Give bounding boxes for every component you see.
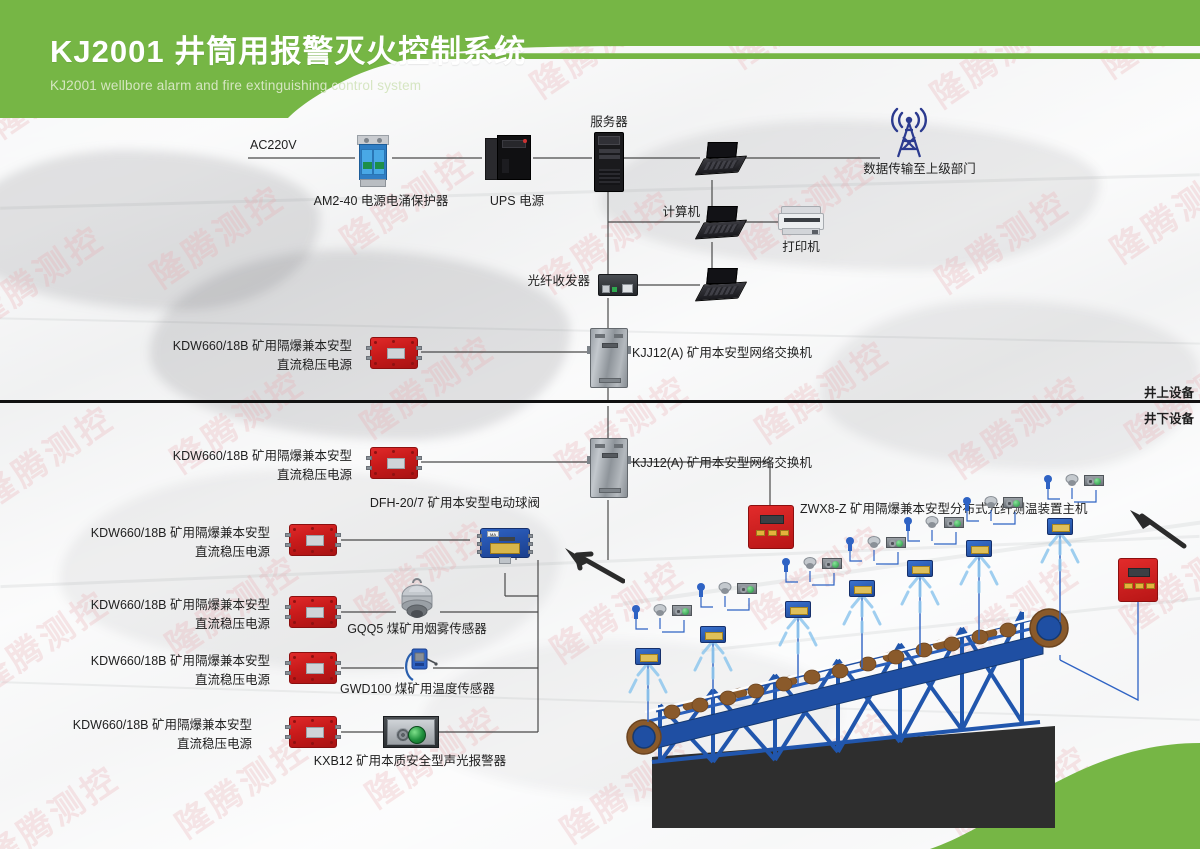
audible-visual-alarm-label: KXB12 矿用本质安全型声光报警器 — [310, 752, 510, 771]
station-temp-sensor-4 — [844, 536, 855, 551]
station-smoke-sensor-4 — [867, 535, 880, 550]
ups-device — [485, 135, 531, 181]
power-supply-underground-5 — [285, 716, 341, 748]
ups-label: UPS 电源 — [482, 192, 552, 211]
network-switch-surface — [590, 328, 628, 388]
temperature-sensor-label: GWD100 煤矿用温度传感器 — [340, 680, 492, 699]
power-supply-surface — [366, 337, 422, 369]
field-controller-device — [1118, 558, 1158, 602]
power-supply-underground-1 — [366, 447, 422, 479]
ps-label-line2: 直流稳压电源 — [88, 615, 270, 634]
power-supply-underground-1-label: KDW660/18B 矿用隔爆兼本安型 直流稳压电源 — [170, 447, 352, 486]
antenna-device — [880, 97, 938, 159]
surge-protector-label: AM2-40 电源电涌保护器 — [306, 192, 456, 211]
page-header: KJ2001 井筒用报警灭火控制系统 KJ2001 wellbore alarm… — [0, 0, 1200, 118]
power-supply-underground-2 — [285, 524, 341, 556]
power-supply-underground-4-label: KDW660/18B 矿用隔爆兼本安型 直流稳压电源 — [88, 652, 270, 691]
network-switch-surface-label: KJJ12(A) 矿用本安型网络交换机 — [632, 344, 812, 363]
station-alarm-6 — [1003, 497, 1023, 508]
ps-label-line2: 直流稳压电源 — [70, 735, 252, 754]
station-smoke-sensor-2 — [718, 581, 731, 596]
server-label: 服务器 — [578, 113, 640, 132]
surge-protector-device — [357, 135, 389, 187]
ball-valve-device: MA — [477, 528, 533, 562]
network-switch-underground-label: KJJ12(A) 矿用本安型网络交换机 — [632, 454, 812, 473]
fiber-converter-device — [598, 274, 638, 296]
arrow-pointing-to-field-controller — [1122, 508, 1192, 550]
power-supply-surface-label: KDW660/18B 矿用隔爆兼本安型 直流稳压电源 — [170, 337, 352, 376]
power-supply-underground-3 — [285, 596, 341, 628]
ps-label-line2: 直流稳压电源 — [88, 671, 270, 690]
laptop-device-2 — [700, 206, 742, 240]
station-temp-sensor-6 — [961, 496, 972, 511]
ac-power-label: AC220V — [250, 136, 297, 155]
station-smoke-sensor-1 — [653, 603, 666, 618]
audible-visual-alarm-device — [383, 716, 439, 748]
ma-badge: MA — [487, 531, 499, 537]
surface-underground-divider — [0, 400, 1200, 403]
power-supply-underground-5-label: KDW660/18B 矿用隔爆兼本安型 直流稳压电源 — [70, 716, 252, 755]
fiber-temp-host-device — [748, 505, 794, 549]
antenna-label: 数据传输至上级部门 — [852, 160, 987, 179]
ps-label-line1: KDW660/18B 矿用隔爆兼本安型 — [170, 337, 352, 356]
station-alarm-1 — [672, 605, 692, 616]
smoke-sensor-label: GQQ5 煤矿用烟雾传感器 — [346, 620, 488, 639]
power-supply-underground-2-label: KDW660/18B 矿用隔爆兼本安型 直流稳压电源 — [88, 524, 270, 563]
power-supply-underground-3-label: KDW660/18B 矿用隔爆兼本安型 直流稳压电源 — [88, 596, 270, 635]
page-title: KJ2001 井筒用报警灭火控制系统 — [50, 26, 526, 71]
ps-label-line1: KDW660/18B 矿用隔爆兼本安型 — [88, 596, 270, 615]
station-alarm-4 — [886, 537, 906, 548]
fiber-converter-label: 光纤收发器 — [488, 272, 590, 291]
station-smoke-sensor-5 — [925, 515, 938, 530]
network-switch-underground — [590, 438, 628, 498]
ps-label-line1: KDW660/18B 矿用隔爆兼本安型 — [70, 716, 252, 735]
ball-valve-label: DFH-20/7 矿用本安型电动球阀 — [318, 494, 540, 513]
ps-label-line2: 直流稳压电源 — [170, 356, 352, 375]
smoke-sensor-device — [394, 578, 438, 624]
ps-label-line2: 直流稳压电源 — [88, 543, 270, 562]
station-temp-sensor-3 — [780, 557, 791, 572]
station-temp-sensor-5 — [902, 516, 913, 531]
station-alarm-5 — [944, 517, 964, 528]
printer-device — [778, 206, 824, 238]
station-smoke-sensor-3 — [803, 556, 816, 571]
page-subtitle: KJ2001 wellbore alarm and fire extinguis… — [50, 78, 526, 93]
computer-label: 计算机 — [600, 203, 700, 222]
ps-label-line2: 直流稳压电源 — [170, 466, 352, 485]
station-alarm-2 — [737, 583, 757, 594]
printer-label: 打印机 — [768, 238, 834, 257]
surface-zone-label: 井上设备 — [1144, 384, 1194, 403]
station-smoke-sensor-6 — [984, 495, 997, 510]
ps-label-line1: KDW660/18B 矿用隔爆兼本安型 — [170, 447, 352, 466]
station-temp-sensor-2 — [695, 582, 706, 597]
laptop-device-3 — [700, 268, 742, 302]
laptop-device-1 — [700, 142, 742, 176]
station-temp-sensor-7 — [1042, 474, 1053, 489]
server-device — [594, 132, 624, 192]
arrow-pointing-to-ball-valve — [555, 545, 625, 585]
station-alarm-3 — [822, 558, 842, 569]
station-temp-sensor-1 — [630, 604, 641, 619]
ps-label-line1: KDW660/18B 矿用隔爆兼本安型 — [88, 524, 270, 543]
station-smoke-sensor-7 — [1065, 473, 1078, 488]
power-supply-underground-4 — [285, 652, 341, 684]
underground-zone-label: 井下设备 — [1144, 410, 1194, 429]
station-alarm-7 — [1084, 475, 1104, 486]
ps-label-line1: KDW660/18B 矿用隔爆兼本安型 — [88, 652, 270, 671]
diagram-canvas: 隆腾测控 隆腾测控 隆腾测控 隆腾测控 隆腾测控 隆腾测控 隆腾测控 隆腾测控 … — [0, 0, 1200, 849]
